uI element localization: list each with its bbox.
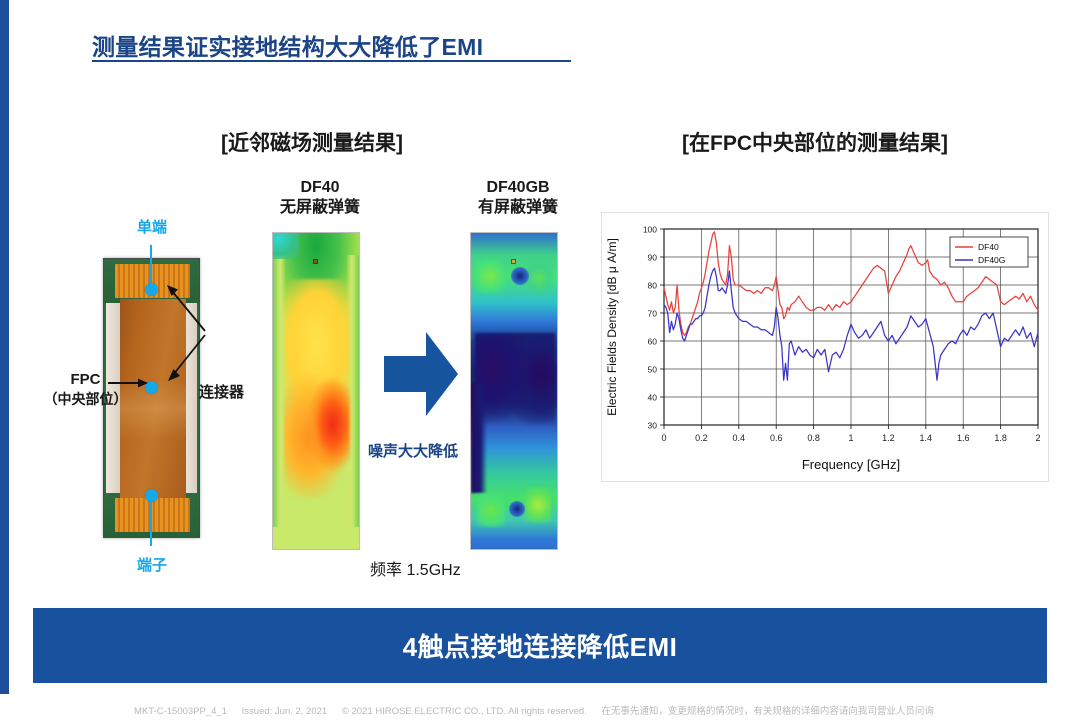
label-noise-reduction: 噪声大大降低	[368, 440, 458, 461]
svg-text:80: 80	[648, 281, 658, 291]
thermal-df40gb-green-bottom-right	[525, 487, 551, 523]
thermal-df40-cool-corner	[273, 233, 299, 259]
footer-issued: Issued: Jun. 2, 2021	[242, 706, 328, 717]
section-heading-near-field: [近邻磁场测量结果]	[221, 127, 403, 157]
section-heading-fpc-center: [在FPC中央部位的测量结果]	[682, 127, 948, 157]
svg-text:1.8: 1.8	[994, 433, 1007, 443]
footer: MKT-C-15003PP_4_1 Issued: Jun. 2, 2021 ©…	[0, 703, 1080, 717]
svg-text:100: 100	[643, 225, 657, 235]
label-terminal: 端子	[126, 554, 178, 575]
footer-doc-id: MKT-C-15003PP_4_1	[134, 706, 227, 717]
title-underline	[92, 60, 571, 62]
thermal-caption-df40gb-sub: 有屏蔽弹簧	[448, 198, 588, 218]
conclusion-banner: 4触点接地连接降低EMI	[33, 608, 1047, 683]
svg-text:30: 30	[648, 421, 658, 431]
svg-text:1: 1	[848, 433, 853, 443]
svg-text:40: 40	[648, 393, 658, 403]
leader-line-bottom	[150, 498, 152, 546]
svg-text:0: 0	[661, 433, 666, 443]
thermal-map-df40gb	[470, 232, 558, 550]
label-single-end: 单端	[126, 216, 178, 237]
thermal-df40gb-green-bottom-left	[477, 493, 505, 527]
improvement-arrow-icon	[382, 326, 460, 422]
svg-text:Electric Fields Density [dB μ: Electric Fields Density [dB μ A/m]	[605, 238, 619, 416]
thermal-df40gb-marker	[511, 259, 516, 264]
footer-notice: 在无事先通知，变更规格的情况时，有关规格的详细内容请向我司营业人员问询	[601, 706, 934, 717]
page-title: 测量结果证实接地结构大大降低了EMI	[92, 28, 483, 62]
svg-text:Frequency [GHz]: Frequency [GHz]	[802, 457, 900, 472]
thermal-df40gb-green-top-right	[527, 263, 551, 293]
footer-copyright: © 2021 HIROSE ELECTRIC CO., LTD. All rig…	[342, 706, 587, 717]
left-accent-bar	[0, 0, 9, 694]
conclusion-banner-text: 4触点接地连接降低EMI	[403, 627, 678, 664]
thermal-caption-df40gb-name: DF40GB	[448, 178, 588, 198]
svg-text:2: 2	[1035, 433, 1040, 443]
thermal-df40-hotspot	[284, 279, 350, 499]
svg-text:0.8: 0.8	[807, 433, 820, 443]
thermal-df40gb-green-top-left	[475, 259, 505, 293]
svg-text:1.4: 1.4	[920, 433, 933, 443]
svg-text:1.2: 1.2	[882, 433, 895, 443]
contact-pad-bottom	[115, 498, 190, 532]
svg-text:0.4: 0.4	[733, 433, 746, 443]
label-frequency-note: 频率 1.5GHz	[370, 556, 461, 580]
thermal-map-df40	[272, 232, 360, 550]
thermal-df40-marker	[313, 259, 318, 264]
svg-text:90: 90	[648, 253, 658, 263]
chart-svg: 3040506070809010000.20.40.60.811.21.41.6…	[602, 213, 1048, 481]
thermal-caption-df40: DF40 无屏蔽弹簧	[250, 178, 390, 219]
svg-text:70: 70	[648, 309, 658, 319]
svg-text:0.6: 0.6	[770, 433, 783, 443]
pointer-arrows	[30, 250, 240, 410]
svg-text:60: 60	[648, 337, 658, 347]
svg-text:0.2: 0.2	[695, 433, 708, 443]
thermal-df40gb-cold-left	[471, 383, 487, 493]
probe-point-bottom	[145, 489, 158, 502]
svg-text:DF40G: DF40G	[978, 255, 1005, 265]
thermal-caption-df40-name: DF40	[250, 178, 390, 198]
thermal-caption-df40gb: DF40GB 有屏蔽弹簧	[448, 178, 588, 219]
svg-text:1.6: 1.6	[957, 433, 970, 443]
thermal-caption-df40-sub: 无屏蔽弹簧	[250, 198, 390, 218]
svg-text:50: 50	[648, 365, 658, 375]
svg-text:DF40: DF40	[978, 242, 999, 252]
thermal-df40gb-null-top	[511, 267, 529, 285]
emi-measurement-chart: 3040506070809010000.20.40.60.811.21.41.6…	[601, 212, 1049, 482]
thermal-df40gb-null-bottom	[509, 501, 525, 517]
thermal-df40gb-coldband	[475, 333, 555, 425]
